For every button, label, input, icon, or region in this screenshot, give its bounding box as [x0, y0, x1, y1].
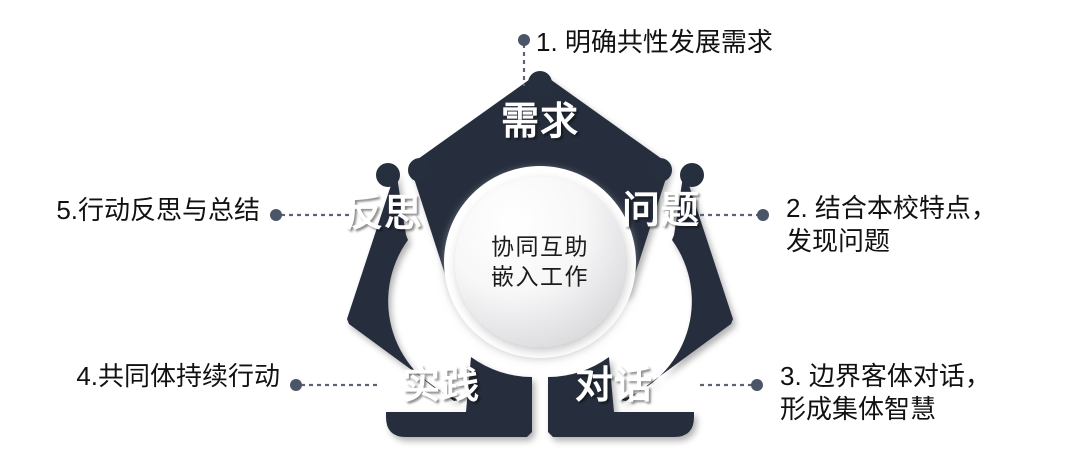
center-circle-group [444, 166, 636, 358]
callout-2-line-2: 发现问题 [786, 225, 997, 258]
callout-3-line-2: 形成集体智慧 [780, 393, 991, 426]
callout-2: 2. 结合本校特点， 发现问题 [786, 192, 997, 259]
pentagon-cycle-diagram: 需求 问题 对话 实践 反思 协同互助 嵌入工作 1. 明确共性发展需求 2. … [0, 0, 1080, 454]
callout-4-line-1: 4.共同体持续行动 [76, 360, 280, 393]
petal-shape-practice[interactable] [386, 357, 532, 437]
connector-dot-2 [757, 209, 769, 221]
callout-2-line-1: 2. 结合本校特点， [786, 192, 997, 225]
connector-dot-5 [270, 209, 282, 221]
connector-dot-4 [290, 379, 302, 391]
callout-5-line-1: 5.行动反思与总结 [56, 194, 260, 227]
callout-1-line-1: 1. 明确共性发展需求 [536, 26, 773, 59]
callout-4: 4.共同体持续行动 [76, 360, 280, 393]
callout-1: 1. 明确共性发展需求 [536, 26, 773, 59]
connector-dot-1 [518, 34, 530, 46]
center-circle[interactable] [455, 177, 625, 347]
callout-5: 5.行动反思与总结 [56, 194, 260, 227]
petal-shape-dialogue[interactable] [548, 357, 694, 437]
callout-3: 3. 边界客体对话， 形成集体智慧 [780, 360, 991, 427]
callout-3-line-1: 3. 边界客体对话， [780, 360, 991, 393]
connector-dot-3 [751, 379, 763, 391]
